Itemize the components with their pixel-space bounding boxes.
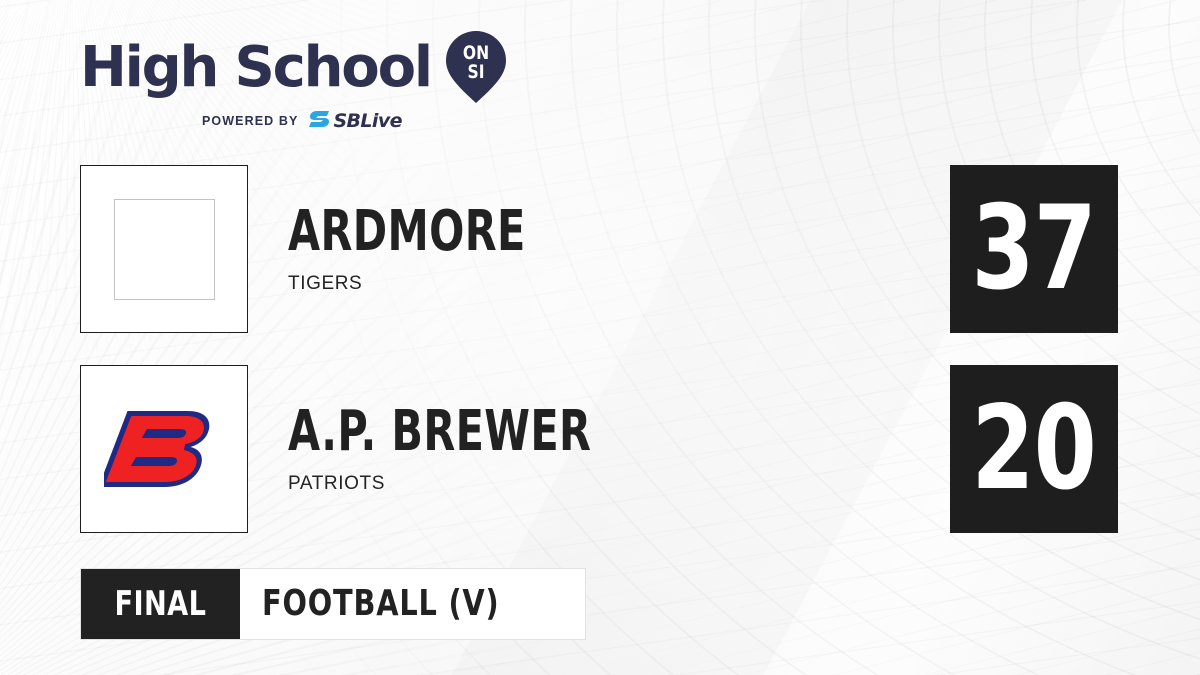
team-name: A.P. BREWER xyxy=(288,403,904,461)
letter-b-logo-icon xyxy=(104,401,224,497)
brand-primary-row: High School ON SI xyxy=(80,32,600,104)
powered-by-label: POWERED BY xyxy=(202,114,298,128)
game-status-bar: FINAL FOOTBALL (V) xyxy=(80,568,586,640)
team-name: ARDMORE xyxy=(288,203,904,261)
sblive-logo: SBLive xyxy=(309,109,401,134)
team-score: 37 xyxy=(972,191,1096,307)
team-score-box: 37 xyxy=(950,165,1118,333)
team-score-box: 20 xyxy=(950,365,1118,533)
pin-line-two: SI xyxy=(467,62,484,84)
sblive-wordmark: SBLive xyxy=(333,110,401,132)
brand-wordmark: High School xyxy=(80,40,431,96)
missing-logo-placeholder-icon xyxy=(114,199,215,300)
status-badge: FINAL xyxy=(81,569,240,639)
team-logo-card-brewer xyxy=(80,365,248,533)
scoreboard-graphic: High School ON SI POWERED BY SBLive xyxy=(0,0,1200,675)
team-logo-card-ardmore xyxy=(80,165,248,333)
sport-label: FOOTBALL (V) xyxy=(262,586,499,622)
sblive-s-mark-icon xyxy=(309,109,331,134)
brand-header: High School ON SI POWERED BY SBLive xyxy=(80,32,600,140)
on-si-pin-icon: ON SI xyxy=(445,30,507,104)
team-score: 20 xyxy=(972,391,1096,507)
sport-label-container: FOOTBALL (V) xyxy=(240,569,585,639)
brand-powered-by-row: POWERED BY SBLive xyxy=(202,110,600,132)
status-badge-label: FINAL xyxy=(114,587,206,621)
